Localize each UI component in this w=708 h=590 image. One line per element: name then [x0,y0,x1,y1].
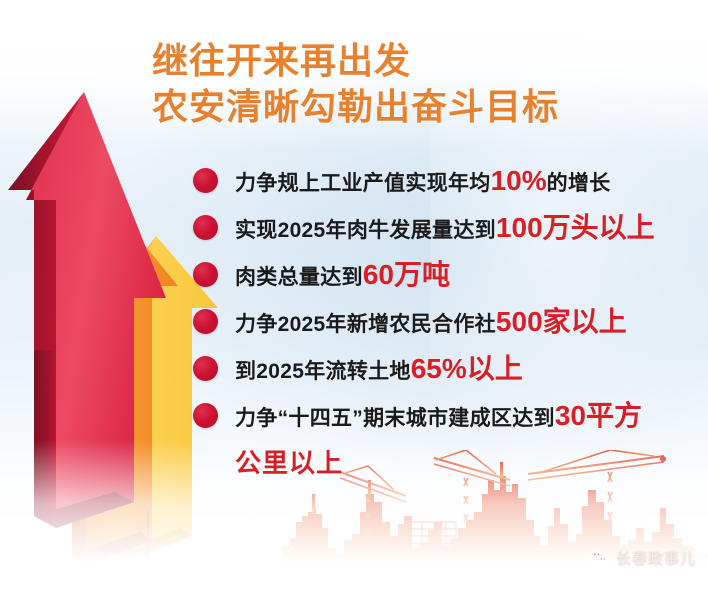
poster-root: 继往开来再出发 农安清晰勾勒出奋斗目标 力争规上工业产值实现年均10%的增长 实… [0,0,708,590]
list-item: 实现2025年肉牛发展量达到100万头以上 [193,207,693,254]
bullet-highlight-2: 100万头以上 [496,212,655,243]
bullet-highlight-4: 500家以上 [496,306,627,337]
bullet-lead-2: 实现2025年肉牛发展量达到 [235,219,496,242]
list-item: 肉类总量达到60万吨 [193,254,693,301]
bullet-highlight-6: 30平方 [555,400,642,431]
list-item: 力争“十四五”期末城市建成区达到30平方 [193,395,693,442]
bullet-dot-icon [193,168,218,193]
page-title: 继往开来再出发 农安清晰勾勒出奋斗目标 [152,38,672,130]
title-line-2: 农安清晰勾勒出奋斗目标 [152,84,672,130]
bullet-dot-icon [193,309,218,334]
watermark: 长春政事儿 [589,547,696,568]
list-item: 到2025年流转土地65%以上 [193,348,693,395]
list-item-text: 力争2025年新增农民合作社500家以上 [235,301,627,345]
list-item-text: 肉类总量达到60万吨 [235,254,450,298]
list-item: 力争规上工业产值实现年均10%的增长 [193,160,693,207]
bullet-highlight-3: 60万吨 [363,259,450,290]
list-item-text: 实现2025年肉牛发展量达到100万头以上 [235,207,655,251]
list-item-text: 力争“十四五”期末城市建成区达到30平方 [235,395,642,439]
goal-list: 力争规上工业产值实现年均10%的增长 实现2025年肉牛发展量达到100万头以上… [193,160,693,442]
bullet-highlight-5: 65%以上 [411,353,523,384]
bullet-highlight-1: 10% [491,165,547,196]
bullet-lead-3: 肉类总量达到 [235,266,363,289]
title-line-1: 继往开来再出发 [152,38,672,84]
bullet-dot-icon [193,356,218,381]
bullet-dot-icon [193,262,218,287]
bullet-lead-6: 力争“十四五”期末城市建成区达到 [235,407,555,430]
bullet-dot-icon [193,403,218,428]
list-item-text: 力争规上工业产值实现年均10%的增长 [235,160,611,204]
list-item-text: 到2025年流转土地65%以上 [235,348,523,392]
bullet-tail-1: 的增长 [547,172,611,195]
list-item: 力争2025年新增农民合作社500家以上 [193,301,693,348]
watermark-text: 长春政事儿 [616,547,696,568]
wechat-icon [589,548,609,568]
bullet-continuation-text: 公里以上 [235,443,343,480]
bullet-lead-5: 到2025年流转土地 [235,360,411,383]
bullet-dot-icon [193,215,218,240]
bullet-lead-1: 力争规上工业产值实现年均 [235,172,491,195]
bullet-lead-4: 力争2025年新增农民合作社 [235,313,496,336]
